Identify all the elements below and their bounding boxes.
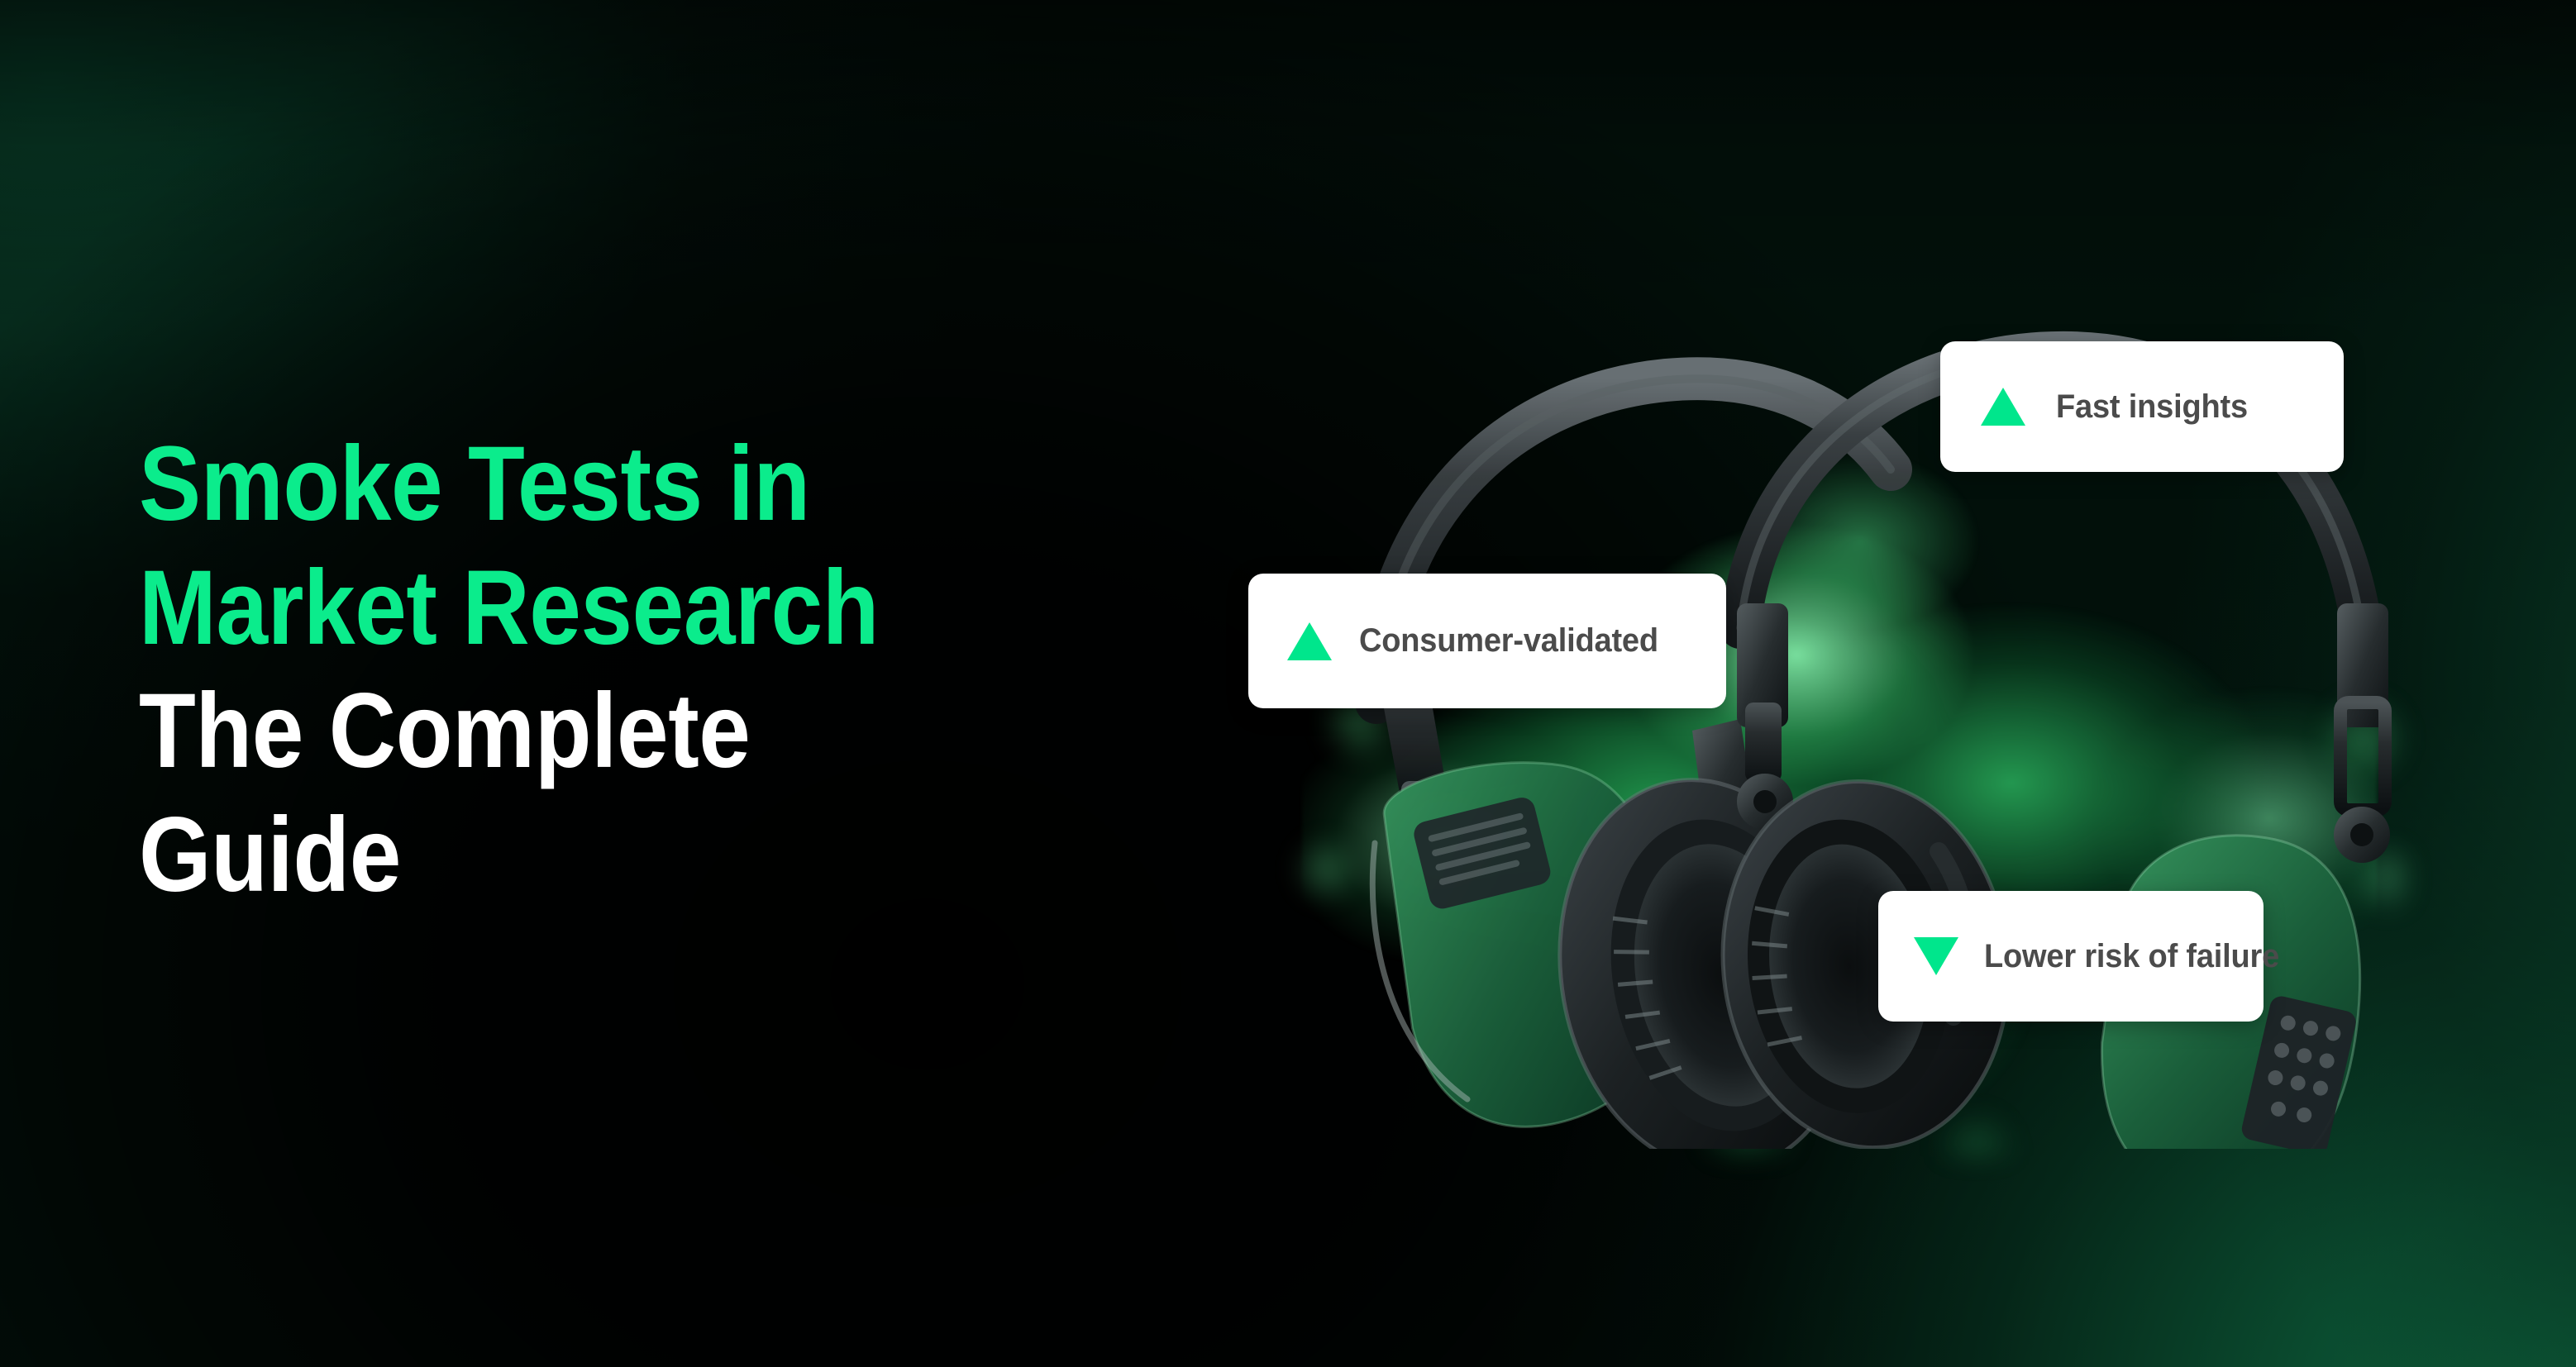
triangle-down-icon [1913, 936, 1959, 977]
badge-consumer-validated[interactable]: Consumer-validated [1248, 574, 1726, 708]
badge-consumer-validated-label: Consumer-validated [1359, 622, 1658, 660]
page-title: Smoke Tests in Market Research The Compl… [139, 422, 1027, 917]
badge-lower-risk-label: Lower risk of failure [1984, 938, 2279, 975]
hero-banner: Smoke Tests in Market Research The Compl… [0, 0, 2576, 1367]
badge-fast-insights-label: Fast insights [2056, 388, 2248, 426]
badge-fast-insights[interactable]: Fast insights [1940, 341, 2344, 472]
headline-line-1: Smoke Tests in [139, 422, 1027, 546]
triangle-up-icon [1286, 621, 1333, 662]
headline-line-3: The Complete [139, 669, 1027, 793]
headline-line-2: Market Research [139, 546, 1027, 670]
badge-lower-risk[interactable]: Lower risk of failure [1878, 891, 2264, 1022]
headline-line-4: Guide [139, 793, 1027, 917]
triangle-up-icon [1980, 386, 2026, 427]
